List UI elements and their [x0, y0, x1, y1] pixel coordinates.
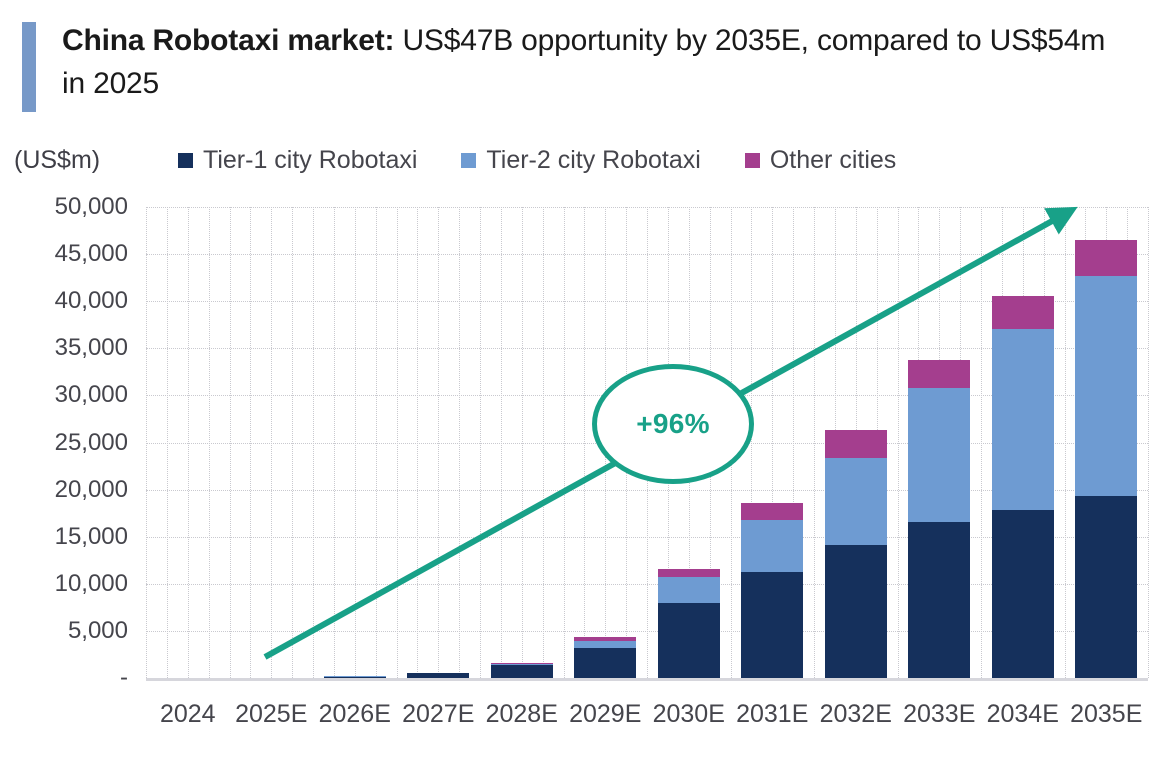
bar-segment-other[interactable]: [908, 360, 970, 389]
x-axis-tick-label: 2035E: [1065, 700, 1149, 729]
bar-segment-tier1[interactable]: [992, 510, 1054, 678]
bar-column[interactable]: [898, 207, 982, 678]
bar-stack[interactable]: [1075, 240, 1137, 678]
y-axis-tick-label: 30,000: [55, 381, 128, 409]
y-axis-tick-label: 10,000: [55, 570, 128, 598]
bar-segment-tier2[interactable]: [992, 329, 1054, 511]
x-axis-tick-label: 2034E: [981, 700, 1065, 729]
bar-column[interactable]: [313, 207, 397, 678]
y-axis-tick-label: 15,000: [55, 523, 128, 551]
x-axis-tick-label: 2028E: [480, 700, 564, 729]
bar-column[interactable]: [397, 207, 481, 678]
bar-column[interactable]: [1065, 207, 1149, 678]
y-axis-tick-label: 50,000: [55, 193, 128, 221]
bar-segment-other[interactable]: [658, 569, 720, 577]
bar-stack[interactable]: [908, 360, 970, 678]
bar-segment-tier1[interactable]: [1075, 496, 1137, 678]
bar-segment-other[interactable]: [825, 430, 887, 458]
bar-segment-tier1[interactable]: [491, 665, 553, 678]
bar-stack[interactable]: [825, 430, 887, 678]
bar-column[interactable]: [981, 207, 1065, 678]
x-axis-tick-label: 2033E: [898, 700, 982, 729]
bar-column[interactable]: [480, 207, 564, 678]
y-axis-tick-label: -: [120, 664, 128, 692]
x-axis-tick-label: 2031E: [731, 700, 815, 729]
bar-segment-other[interactable]: [992, 296, 1054, 329]
x-axis: 20242025E2026E2027E2028E2029E2030E2031E2…: [146, 692, 1148, 737]
bar-segment-tier2[interactable]: [741, 520, 803, 572]
bar-stack[interactable]: [658, 569, 720, 678]
bar-segment-other[interactable]: [741, 503, 803, 520]
bar-segment-tier1[interactable]: [825, 545, 887, 678]
growth-callout: +96%: [592, 364, 754, 484]
y-axis: -5,00010,00015,00020,00025,00030,00035,0…: [0, 195, 140, 690]
bar-segment-tier1[interactable]: [741, 572, 803, 678]
bar-stack[interactable]: [574, 637, 636, 678]
bar-segment-tier1[interactable]: [658, 603, 720, 678]
axis-baseline: [146, 678, 1148, 681]
x-axis-tick-label: 2026E: [313, 700, 397, 729]
bar-stack[interactable]: [992, 296, 1054, 678]
bar-segment-tier1[interactable]: [574, 648, 636, 678]
y-axis-tick-label: 25,000: [55, 429, 128, 457]
y-axis-tick-label: 5,000: [68, 617, 128, 645]
x-axis-tick-label: 2030E: [647, 700, 731, 729]
growth-callout-label: +96%: [636, 408, 710, 440]
x-axis-tick-label: 2024: [146, 700, 230, 729]
y-axis-tick-label: 35,000: [55, 334, 128, 362]
bar-stack[interactable]: [491, 663, 553, 678]
bar-segment-tier2[interactable]: [574, 641, 636, 648]
y-axis-tick-label: 40,000: [55, 287, 128, 315]
x-axis-tick-label: 2029E: [564, 700, 648, 729]
bar-segment-tier2[interactable]: [825, 458, 887, 545]
y-axis-tick-label: 45,000: [55, 240, 128, 268]
chart-area: -5,00010,00015,00020,00025,00030,00035,0…: [0, 0, 1152, 763]
bar-segment-other[interactable]: [1075, 240, 1137, 275]
bar-segment-tier2[interactable]: [658, 577, 720, 603]
y-axis-tick-label: 20,000: [55, 476, 128, 504]
bar-segment-tier2[interactable]: [908, 388, 970, 522]
bar-column[interactable]: [146, 207, 230, 678]
gridline-vertical: [1148, 207, 1149, 678]
bar-segment-tier1[interactable]: [908, 522, 970, 678]
x-axis-tick-label: 2027E: [397, 700, 481, 729]
x-axis-tick-label: 2032E: [814, 700, 898, 729]
x-axis-tick-label: 2025E: [230, 700, 314, 729]
bar-segment-tier2[interactable]: [1075, 276, 1137, 496]
bar-column[interactable]: [230, 207, 314, 678]
bar-column[interactable]: [814, 207, 898, 678]
bar-stack[interactable]: [741, 503, 803, 678]
